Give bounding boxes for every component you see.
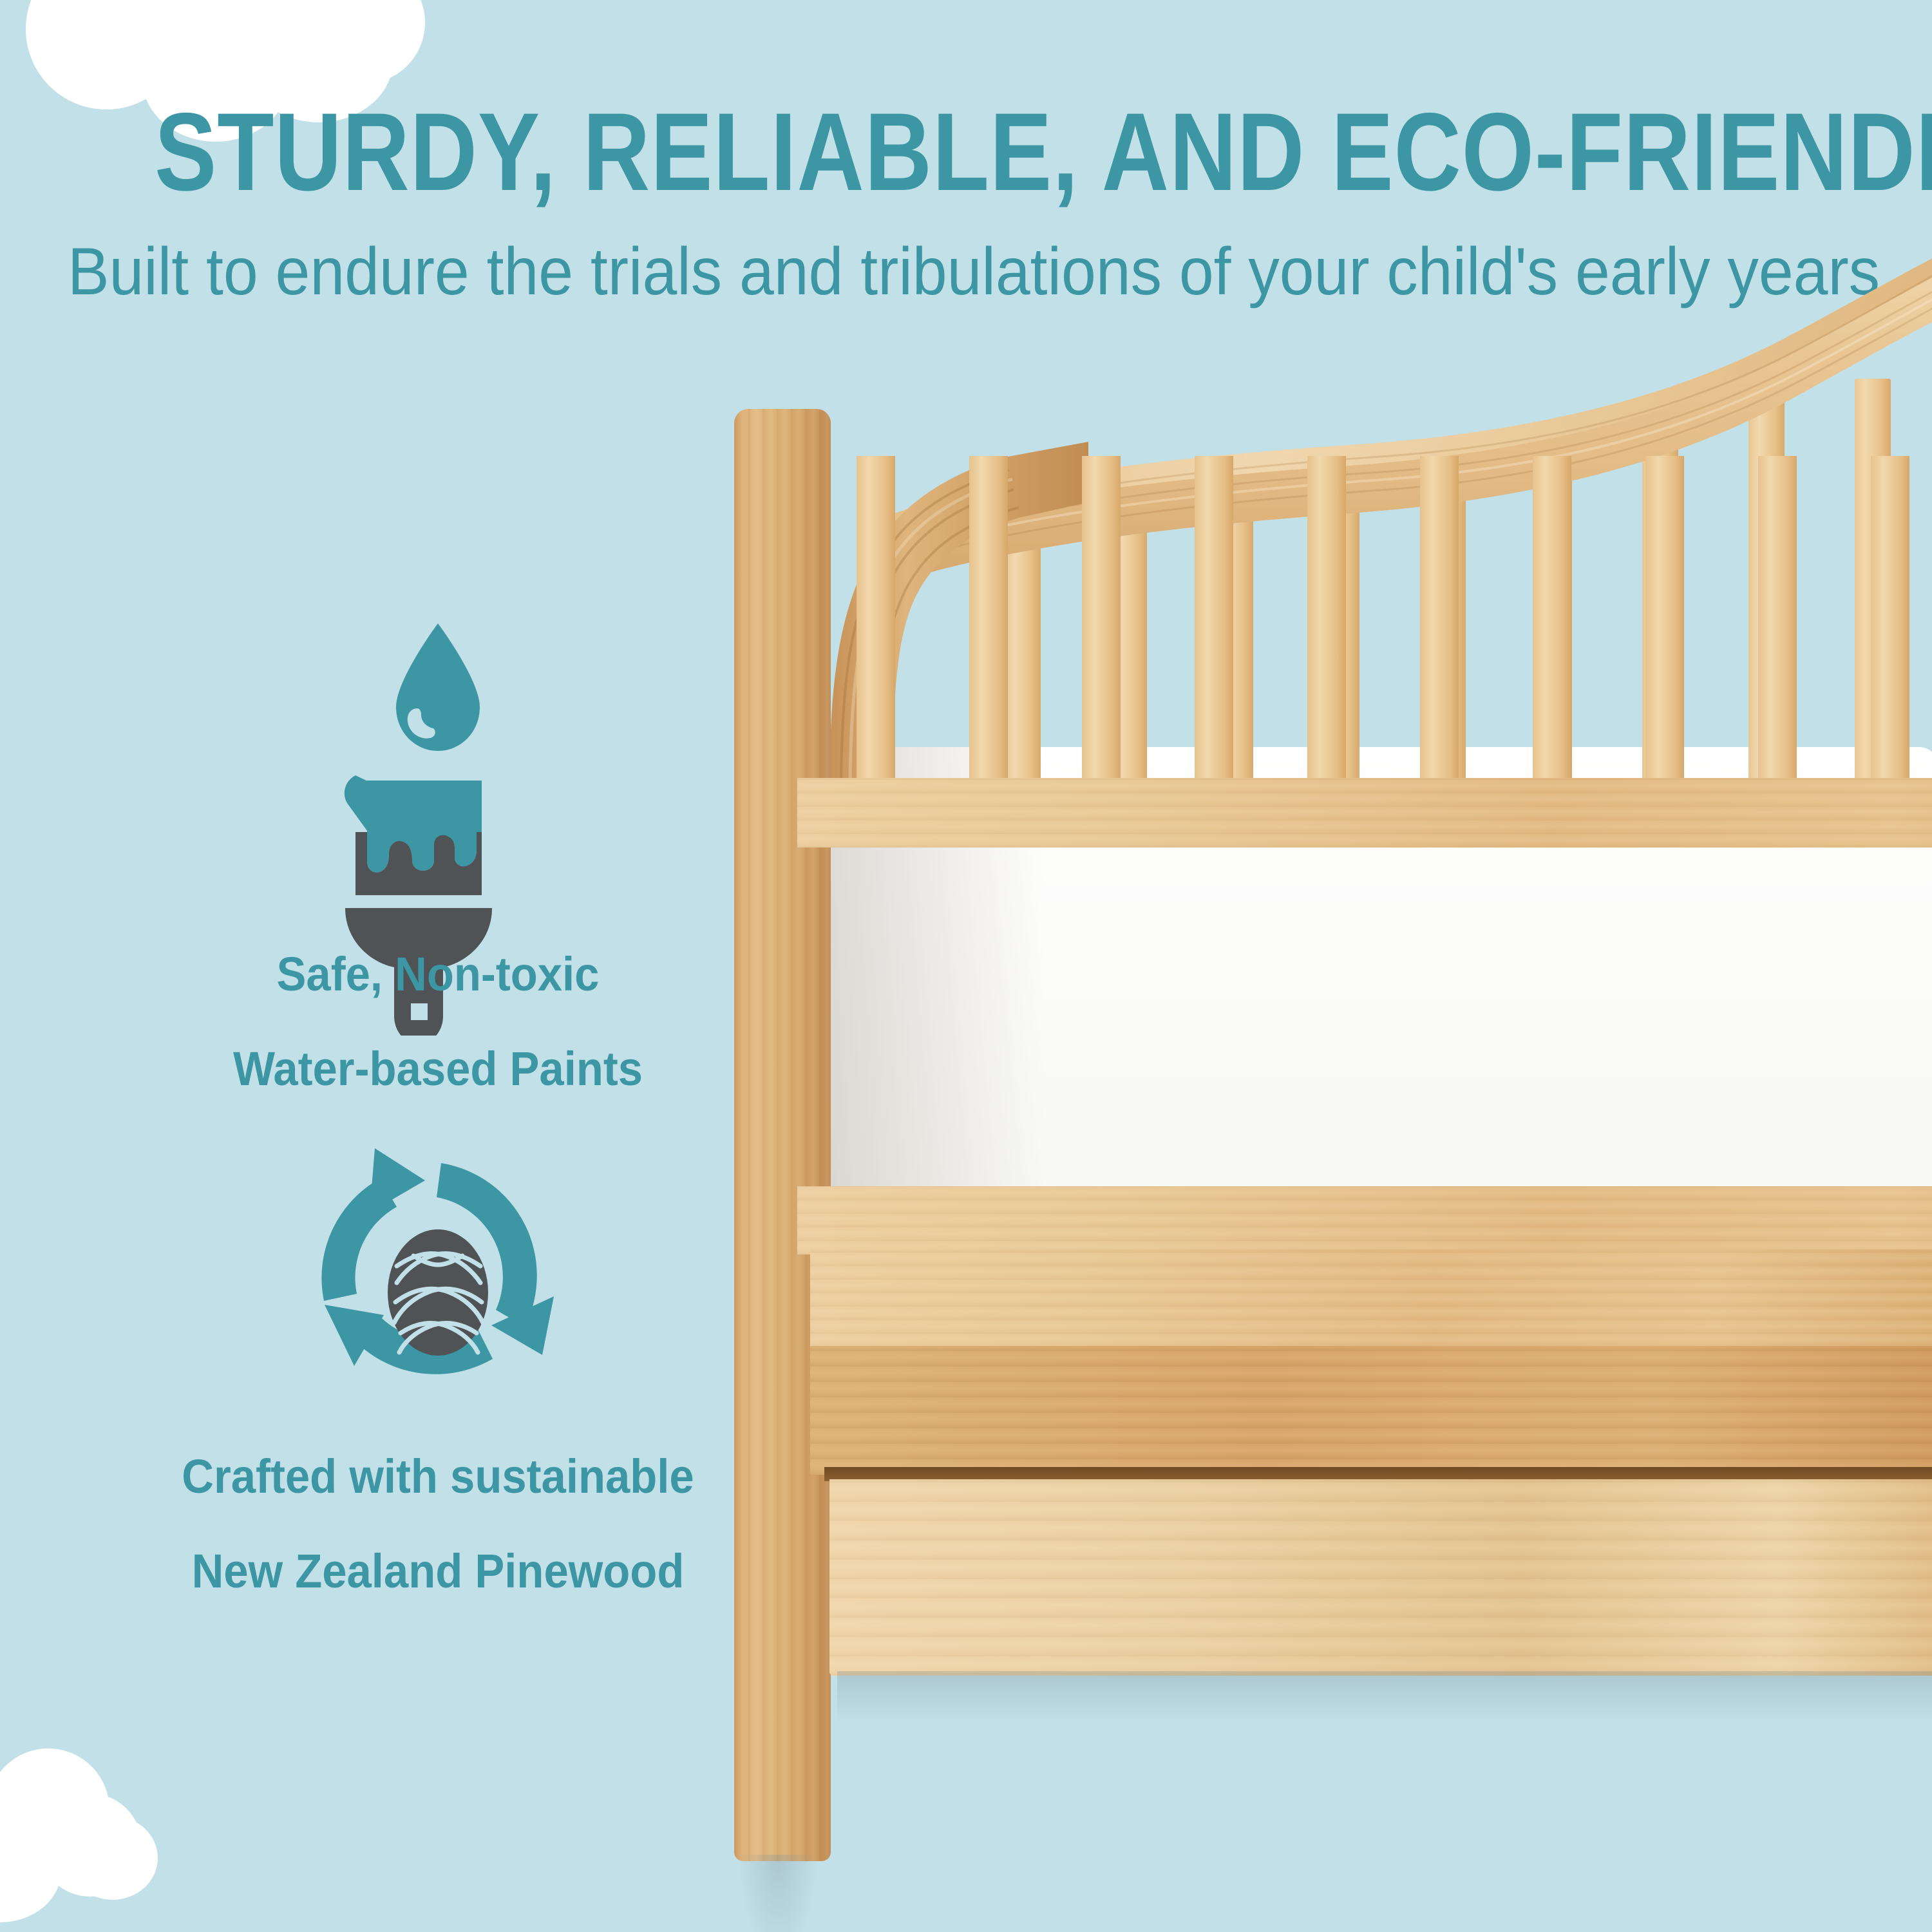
cloud-bottom-left [0,1768,174,1916]
feature-block-paints: Safe, Non-toxic Water-based Paints [97,618,779,1097]
guardrail-panel [797,778,1932,1255]
guardrail-bottom-rail [797,1186,1932,1255]
storage-drawer-front[interactable] [829,1479,1932,1676]
feature-label-wood-line1: Crafted with sustainable [97,1449,779,1505]
product-toddler-bed [734,386,1932,1880]
feature-block-wood: Crafted with sustainable New Zealand Pin… [71,1140,805,1599]
feature-label-paints-line2: Water-based Paints [120,1041,755,1097]
base-rail-lower [810,1346,1932,1475]
guardrail-top-rail [797,778,1932,848]
drawer-shadow [837,1671,1932,1723]
post-shadow [739,1855,817,1932]
paint-brush-with-water-drop-icon [341,618,535,908]
recycle-arrows-with-pinecone-icon [303,1140,573,1410]
feature-label-paints-line1: Safe, Non-toxic [120,947,755,1003]
feature-graphic-canvas: STURDY, RELIABLE, AND ECO-FRIENDLY Built… [0,0,1932,1932]
feature-label-wood-line2: New Zealand Pinewood [97,1544,779,1600]
